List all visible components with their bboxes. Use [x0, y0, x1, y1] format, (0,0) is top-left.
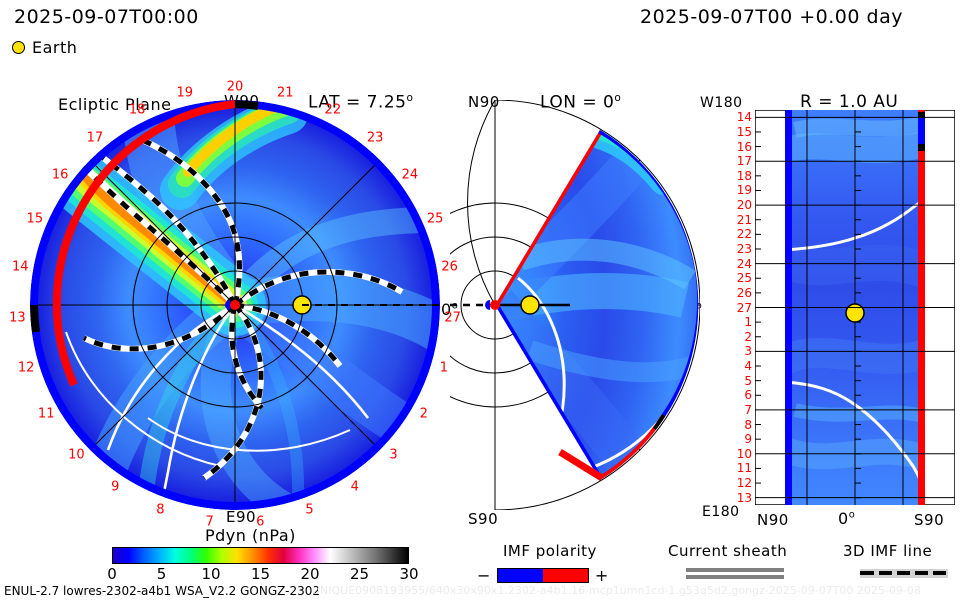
- colorbar-gradient: [113, 548, 408, 563]
- ecliptic-longitude-label: 20: [227, 81, 244, 94]
- current-sheath-legend-title: Current sheath: [668, 542, 787, 560]
- strip-y-label: 19: [737, 184, 752, 196]
- strip-y-label: 16: [737, 141, 752, 153]
- run-id-watermark: UNIQUE0908193955/640x30x90x1.2302-a4b1.1…: [312, 584, 921, 597]
- strip-y-label: 11: [737, 462, 752, 474]
- strip-y-label: 7: [744, 404, 752, 416]
- strip-y-label: 5: [744, 375, 752, 387]
- colorbar-tick-5: 5: [157, 565, 167, 583]
- ecliptic-longitude-label: 14: [12, 261, 29, 274]
- constant-radius-strip-plot: 1415161718192021222324252627123456789101…: [755, 110, 955, 505]
- strip-y-label: 4: [744, 360, 752, 372]
- imf-line-dash: [860, 571, 874, 575]
- imf-negative-swatch: [498, 569, 543, 582]
- earth-marker-meridional: [521, 296, 539, 314]
- strip-radius-label: R = 1.0 AU: [800, 92, 898, 112]
- strip-y-label: 6: [744, 389, 752, 401]
- ecliptic-longitude-label: 3: [389, 448, 397, 461]
- strip-x-left-label: N90: [757, 511, 789, 529]
- colorbar-tick-10: 10: [201, 565, 220, 583]
- imf-polarity-legend-title: IMF polarity: [503, 542, 597, 560]
- strip-y-label: 3: [744, 345, 752, 357]
- sun-marker: [225, 300, 240, 310]
- strip-y-label: 14: [737, 111, 752, 123]
- strip-field-svg: [755, 110, 955, 505]
- current-sheath-bar: [686, 575, 784, 579]
- strip-y-label: 12: [737, 477, 752, 489]
- ecliptic-field-svg: [30, 100, 440, 510]
- imf-line-dash: [879, 571, 892, 575]
- timestamp-left: 2025-09-07T00:00: [14, 6, 199, 28]
- ecliptic-longitude-label: 25: [427, 212, 444, 225]
- ecliptic-longitude-label: 5: [305, 503, 313, 516]
- colorbar-tick-25: 25: [350, 565, 369, 583]
- ecliptic-disk: [30, 100, 440, 510]
- strip-y-label: 22: [737, 228, 752, 240]
- model-version-footer: ENUL-2.7 lowres-2302-a4b1 WSA_V2.2 GONGZ…: [4, 584, 320, 598]
- ecliptic-longitude-label: 21: [277, 86, 294, 99]
- meridional-south-label: S90: [468, 510, 498, 528]
- strip-bottom-label: E180: [702, 504, 740, 520]
- ecliptic-longitude-label: 22: [325, 104, 342, 117]
- ecliptic-longitude-label: 11: [38, 408, 55, 421]
- strip-x-right-label: S90: [914, 511, 944, 529]
- ecliptic-longitude-label: 9: [111, 481, 119, 494]
- earth-marker-strip: [846, 304, 864, 322]
- ecliptic-longitude-label: 10: [68, 448, 85, 461]
- strip-y-label: 10: [737, 448, 752, 460]
- imf-line-dash: [897, 571, 910, 575]
- current-sheath-legend-swatch: [686, 568, 784, 582]
- ecliptic-bottom-label: E90: [226, 508, 256, 526]
- ecliptic-longitude-label: 1: [440, 361, 448, 374]
- colorbar: [112, 547, 409, 564]
- colorbar-tick-20: 20: [300, 565, 319, 583]
- imf-positive-swatch: [543, 569, 588, 582]
- ecliptic-longitude-label: 15: [27, 212, 44, 225]
- imf-minus-label: −: [477, 566, 491, 585]
- meridional-field-svg: [450, 100, 700, 510]
- strip-y-label: 15: [737, 126, 752, 138]
- current-sheath-bar: [686, 568, 784, 572]
- sun-marker-meridional: [485, 300, 500, 310]
- strip-y-label: 9: [744, 433, 752, 445]
- colorbar-tick-15: 15: [251, 565, 270, 583]
- imf-polarity-swatch: [497, 568, 589, 583]
- timestamp-right: 2025-09-07T00 +0.00 day: [640, 6, 903, 28]
- ecliptic-plane-plot: 2021222324252627123456789101112131415161…: [30, 100, 440, 510]
- strip-y-label: 17: [737, 155, 752, 167]
- strip-top-label: W180: [700, 95, 743, 111]
- ecliptic-longitude-label: 4: [351, 481, 359, 494]
- strip-y-label: 24: [737, 258, 752, 270]
- colorbar-label: Pdyn (nPa): [205, 526, 296, 545]
- imf-line-legend-title: 3D IMF line: [843, 542, 932, 560]
- ecliptic-longitude-label: 2: [420, 408, 428, 421]
- ecliptic-longitude-label: 17: [87, 132, 104, 145]
- strip-y-label: 27: [737, 302, 752, 314]
- strip-y-label: 25: [737, 272, 752, 284]
- ecliptic-longitude-label: 8: [156, 503, 164, 516]
- strip-y-label: 20: [737, 199, 752, 211]
- ecliptic-longitude-label: 19: [176, 86, 193, 99]
- strip-y-label: 1: [744, 316, 752, 328]
- meridional-plane-plot: [450, 100, 700, 510]
- ecliptic-longitude-label: 16: [52, 168, 69, 181]
- earth-legend-label: Earth: [32, 38, 77, 57]
- colorbar-tick-0: 0: [107, 565, 117, 583]
- strip-y-label: 21: [737, 214, 752, 226]
- strip-y-label: 13: [737, 492, 752, 504]
- strip-x-mid-value: 0: [838, 509, 849, 528]
- imf-line-dash: [933, 571, 946, 575]
- imf-line-dash: [915, 571, 928, 575]
- earth-marker-icon: [12, 41, 25, 54]
- degree-symbol: o: [849, 510, 856, 521]
- ecliptic-longitude-label: 18: [129, 104, 146, 117]
- ecliptic-longitude-label: 13: [9, 311, 26, 324]
- strip-y-label: 8: [744, 419, 752, 431]
- earth-legend: Earth: [12, 38, 77, 57]
- ecliptic-longitude-label: 24: [402, 168, 419, 181]
- imf-plus-label: +: [595, 566, 609, 585]
- ecliptic-longitude-label: 12: [18, 361, 35, 374]
- imf-line-legend-swatch: [860, 569, 948, 578]
- strip-x-mid-label: 0o: [838, 509, 855, 528]
- strip-y-label: 23: [737, 243, 752, 255]
- strip-y-label: 18: [737, 170, 752, 182]
- strip-y-label: 2: [744, 331, 752, 343]
- ecliptic-longitude-label: 23: [367, 132, 384, 145]
- colorbar-tick-30: 30: [399, 565, 418, 583]
- imf-polarity-legend: − +: [477, 566, 609, 585]
- strip-y-label: 26: [737, 287, 752, 299]
